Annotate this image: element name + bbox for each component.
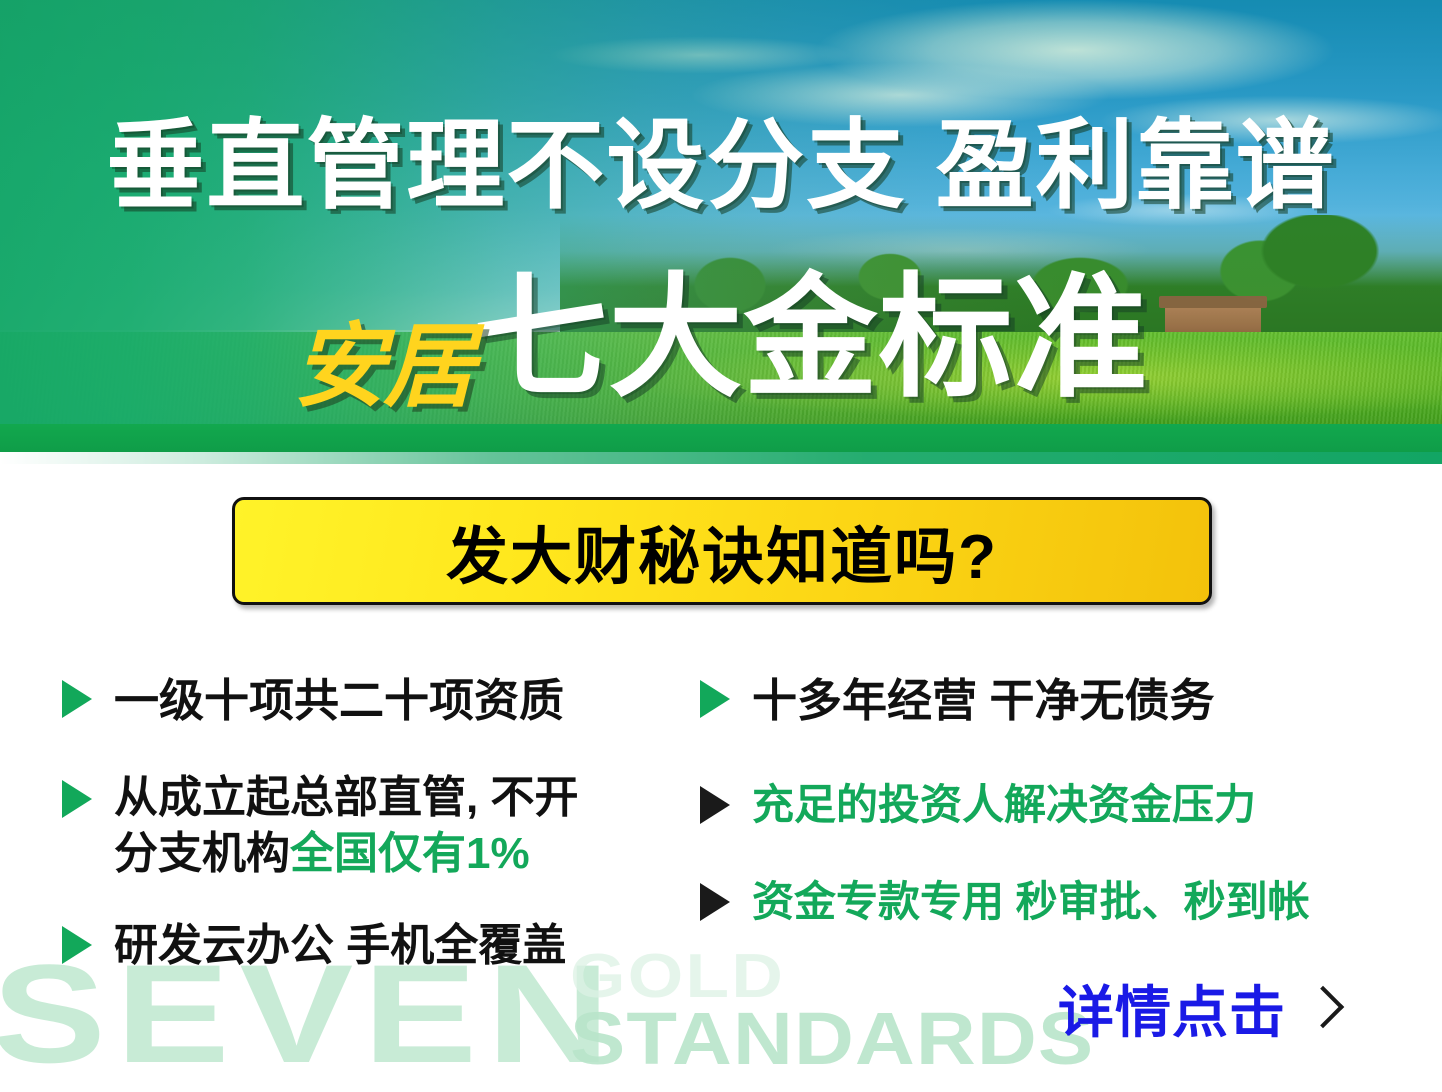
feature-item-dedicated-funds: 资金专款专用 秒审批、秒到帐	[700, 875, 1310, 929]
details-cta-button[interactable]: 详情点击	[1058, 968, 1338, 1049]
watermark-standards: STANDARDS	[570, 1002, 1094, 1076]
feature-item-cloud-office: 研发云办公 手机全覆盖	[62, 918, 566, 974]
chevron-right-icon	[1302, 985, 1344, 1027]
feature-item-investors: 充足的投资人解决资金压力	[700, 778, 1256, 832]
feature-line-2-highlight: 全国仅有1%	[290, 829, 530, 878]
feature-item-label: 研发云办公 手机全覆盖	[114, 918, 566, 974]
triangle-bullet-icon	[62, 680, 92, 718]
triangle-bullet-icon	[700, 680, 730, 718]
ad-banner-page: 垂直管理不设分支 盈利靠谱 安居七大金标准 发大财秘诀知道吗? 一级十项共二十项…	[0, 0, 1442, 1066]
feature-item-label: 资金专款专用 秒审批、秒到帐	[752, 875, 1310, 929]
details-cta-label: 详情点击	[1058, 968, 1286, 1049]
hero-headline-primary: 垂直管理不设分支 盈利靠谱	[0, 116, 1442, 214]
hero-headline-secondary-row: 安居七大金标准	[0, 272, 1442, 406]
hero-text-group: 垂直管理不设分支 盈利靠谱 安居七大金标准	[0, 0, 1442, 452]
hero-headline-secondary: 七大金标准	[474, 272, 1149, 406]
triangle-bullet-icon	[700, 786, 730, 824]
brand-script-text: 安居	[293, 320, 473, 412]
hero-section: 垂直管理不设分支 盈利靠谱 安居七大金标准	[0, 0, 1442, 452]
feature-item-label: 十多年经营 干净无债务	[752, 672, 1215, 730]
feature-line-2-plain: 分支机构	[114, 829, 290, 878]
feature-line-1: 从成立起总部直管, 不开	[114, 773, 578, 822]
feature-item-direct-management: 从成立起总部直管, 不开 分支机构全国仅有1%	[62, 770, 578, 883]
feature-item-qualifications: 一级十项共二十项资质	[62, 672, 564, 730]
feature-item-label: 一级十项共二十项资质	[114, 672, 564, 730]
triangle-bullet-icon	[700, 883, 730, 921]
hero-underline-strip	[0, 452, 1442, 464]
yellow-hook-banner[interactable]: 发大财秘诀知道吗?	[232, 497, 1212, 605]
feature-item-label: 充足的投资人解决资金压力	[752, 778, 1256, 832]
yellow-hook-banner-text: 发大财秘诀知道吗?	[446, 506, 998, 596]
feature-columns: 一级十项共二十项资质 从成立起总部直管, 不开 分支机构全国仅有1% 研发云办公…	[0, 660, 1442, 1000]
triangle-bullet-icon	[62, 780, 92, 818]
feature-item-no-debt: 十多年经营 干净无债务	[700, 672, 1215, 730]
triangle-bullet-icon	[62, 926, 92, 964]
feature-item-label: 从成立起总部直管, 不开 分支机构全国仅有1%	[114, 770, 578, 883]
